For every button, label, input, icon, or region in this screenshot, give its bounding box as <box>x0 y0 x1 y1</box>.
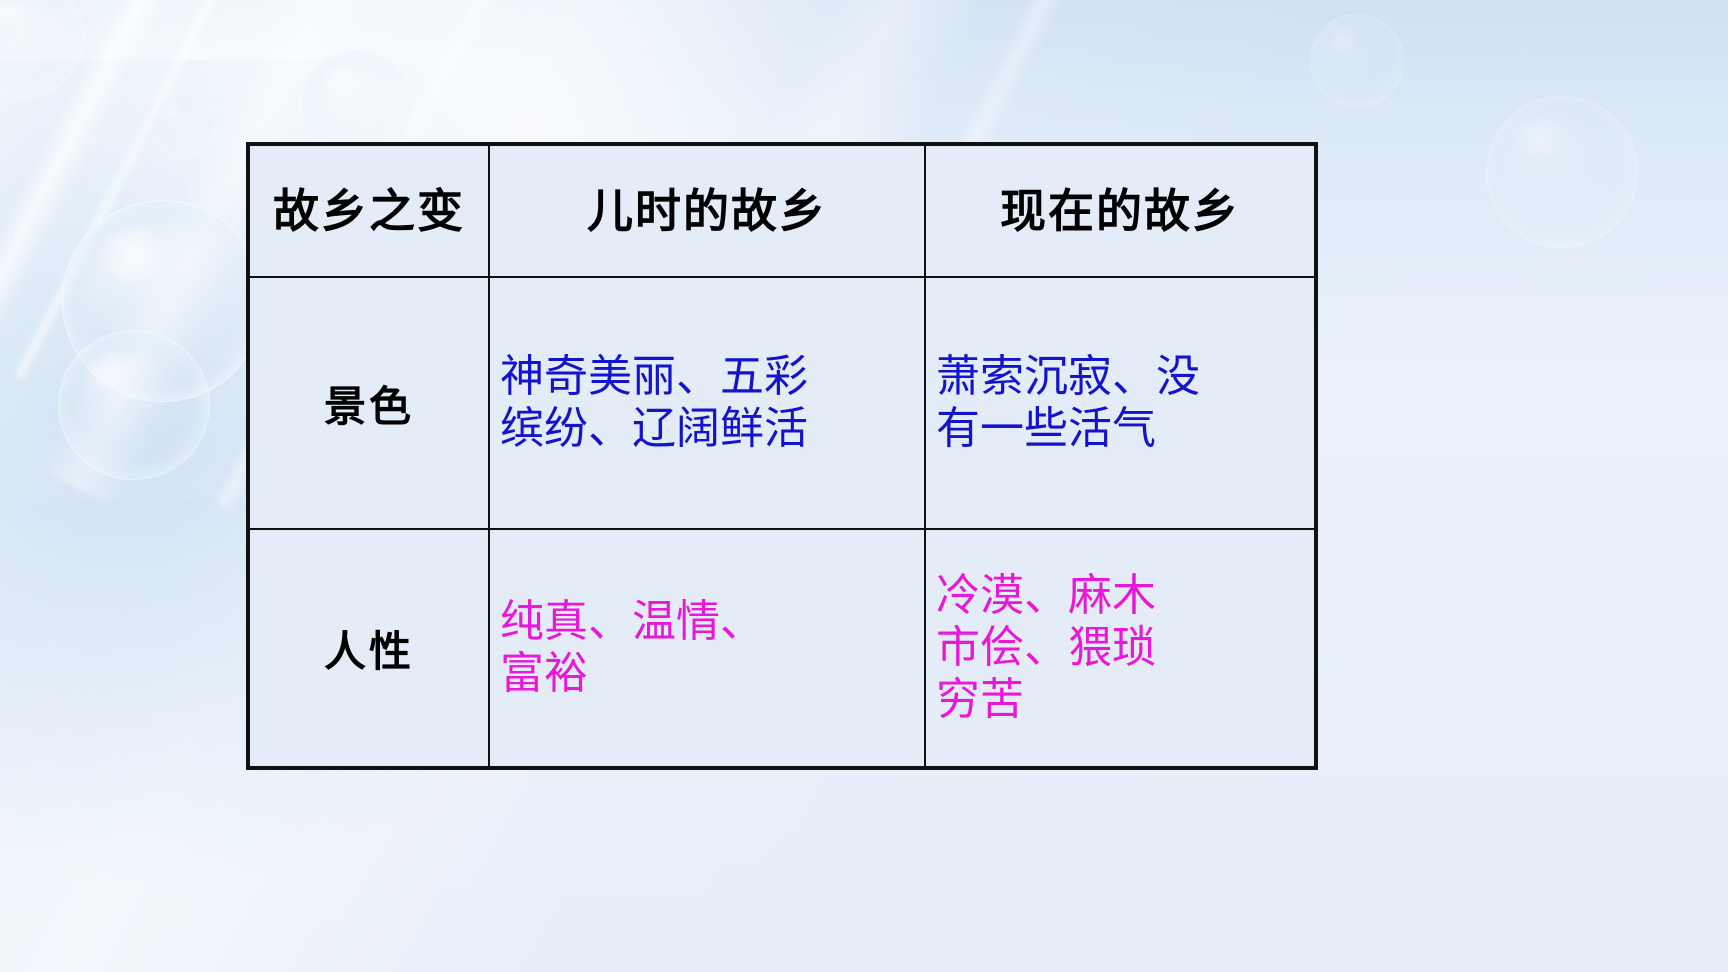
cell-line: 冷漠、麻木 <box>936 570 1304 622</box>
bubble-icon <box>1486 96 1638 248</box>
comparison-table-wrapper: 故乡之变 儿时的故乡 现在的故乡 景色 神奇美丽、五彩 缤纷、辽阔鲜活 萧 <box>248 144 1314 738</box>
cell-humanity-present: 冷漠、麻木 市侩、猥琐 穷苦 <box>925 529 1315 767</box>
cell-line: 穷苦 <box>936 674 1304 726</box>
cell-scenery-past: 神奇美丽、五彩 缤纷、辽阔鲜活 <box>489 277 925 529</box>
bubble-icon <box>1310 14 1404 108</box>
header-cell-present: 现在的故乡 <box>925 145 1315 277</box>
cell-line: 市侩、猥琐 <box>936 622 1304 674</box>
cell-scenery-present: 萧索沉寂、没 有一些活气 <box>925 277 1315 529</box>
table-row: 人性 纯真、温情、 富裕 冷漠、麻木 市侩、猥琐 穷苦 <box>249 529 1315 767</box>
comparison-table: 故乡之变 儿时的故乡 现在的故乡 景色 神奇美丽、五彩 缤纷、辽阔鲜活 萧 <box>248 144 1316 768</box>
cell-line: 纯真、温情、 <box>500 596 914 648</box>
cell-line: 神奇美丽、五彩 <box>500 351 914 403</box>
header-cell-topic: 故乡之变 <box>249 145 489 277</box>
bubble-icon <box>150 92 216 158</box>
cell-line: 富裕 <box>500 648 914 700</box>
header-cell-past: 儿时的故乡 <box>489 145 925 277</box>
slide-canvas: 故乡之变 儿时的故乡 现在的故乡 景色 神奇美丽、五彩 缤纷、辽阔鲜活 萧 <box>0 0 1728 972</box>
cell-humanity-past: 纯真、温情、 富裕 <box>489 529 925 767</box>
row-label-scenery: 景色 <box>249 277 489 529</box>
bubble-icon <box>58 330 210 480</box>
table-row: 景色 神奇美丽、五彩 缤纷、辽阔鲜活 萧索沉寂、没 有一些活气 <box>249 277 1315 529</box>
cell-line: 萧索沉寂、没 <box>936 351 1304 403</box>
table-header-row: 故乡之变 儿时的故乡 现在的故乡 <box>249 145 1315 277</box>
row-label-humanity: 人性 <box>249 529 489 767</box>
cell-line: 缤纷、辽阔鲜活 <box>500 403 914 455</box>
cell-line: 有一些活气 <box>936 403 1304 455</box>
